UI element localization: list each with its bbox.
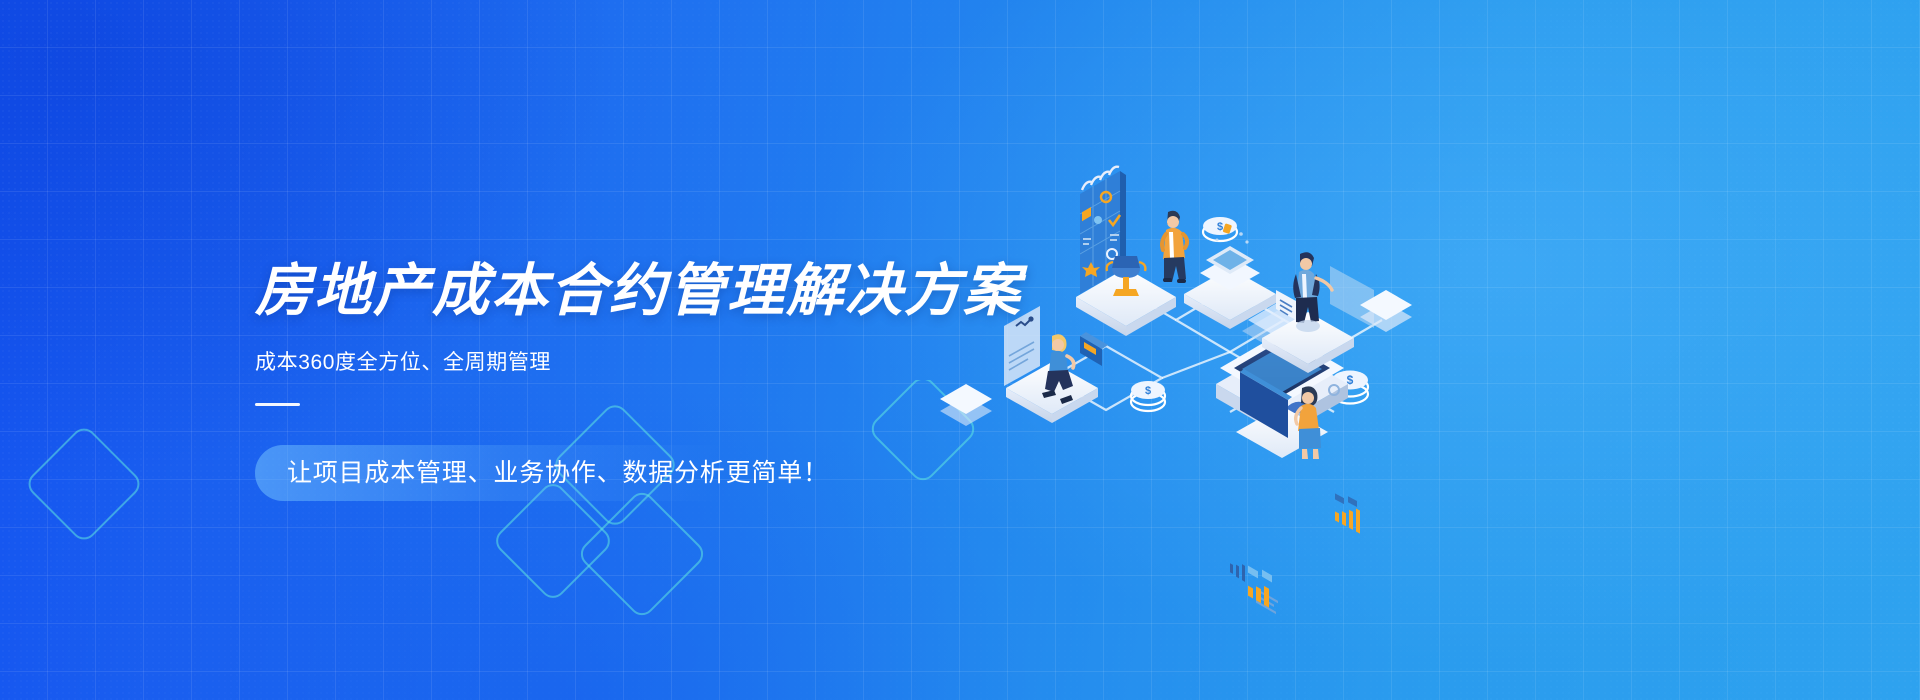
page-title: 房地产成本合约管理解决方案 bbox=[255, 262, 1035, 321]
tablet-device bbox=[1080, 332, 1108, 366]
hero-tagline-text: 让项目成本管理、业务协作、数据分析更简单！ bbox=[287, 461, 829, 486]
title-divider-rule bbox=[255, 403, 300, 406]
hero-tagline-pill: 让项目成本管理、业务协作、数据分析更简单！ bbox=[255, 445, 853, 501]
svg-text:$: $ bbox=[1145, 385, 1151, 397]
standing-man-orange-jacket bbox=[1162, 211, 1187, 283]
calendar-platform bbox=[1076, 167, 1187, 336]
bar-chart-screen-lower bbox=[1240, 369, 1292, 608]
hero-copy: 房地产成本合约管理解决方案 成本360度全方位、全周期管理 让项目成本管理、业务… bbox=[255, 262, 1035, 406]
hero-subtitle: 成本360度全方位、全周期管理 bbox=[255, 349, 1035, 376]
coin-stack-dollar-upper: $ bbox=[1203, 217, 1237, 241]
coin-stack-dollar-lower: $ bbox=[1131, 381, 1165, 411]
hero-banner: $ $ $ bbox=[0, 0, 1920, 700]
svg-text:$: $ bbox=[1217, 221, 1223, 233]
presenting-man-suit bbox=[1293, 252, 1332, 332]
decorative-diamonds bbox=[0, 380, 1000, 700]
